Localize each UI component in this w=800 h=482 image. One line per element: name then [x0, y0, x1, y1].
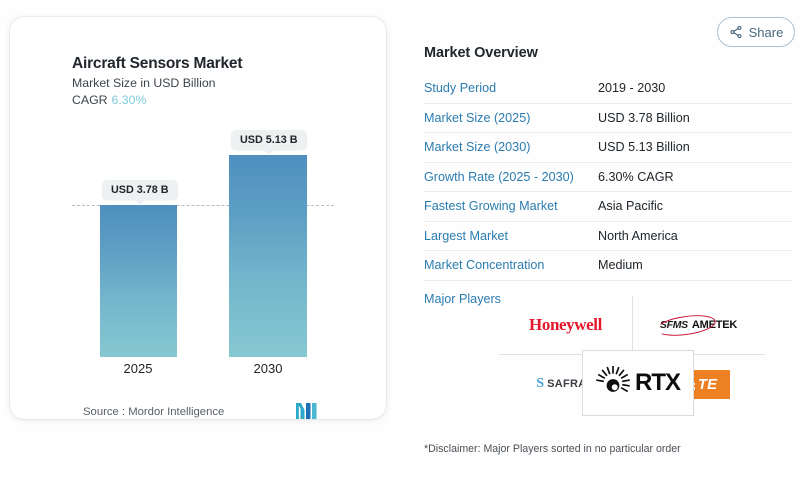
te-text: TE	[698, 377, 717, 392]
table-row: Study Period 2019 - 2030	[424, 74, 792, 104]
bar-2030[interactable]	[229, 155, 307, 357]
sfms-ametek-logo: SFMS AMETEK	[660, 319, 737, 331]
market-overview-title: Market Overview	[424, 45, 792, 61]
bar-chart-plot: USD 3.78 B USD 5.13 B 2025 2030	[10, 17, 386, 419]
row-label: Market Size (2025)	[424, 111, 598, 125]
logo-cell-rtx: RTX	[582, 350, 694, 416]
bar-value-label-2030: USD 5.13 B	[231, 130, 307, 150]
share-button[interactable]: Share	[717, 17, 795, 47]
row-value: 6.30% CAGR	[598, 170, 674, 184]
table-row: Market Size (2025) USD 3.78 Billion	[424, 104, 792, 134]
table-row: Largest Market North America	[424, 222, 792, 252]
rtx-text: RTX	[635, 369, 680, 397]
table-row: Fastest Growing Market Asia Pacific	[424, 192, 792, 222]
x-axis-label-2025: 2025	[93, 361, 183, 376]
row-value: USD 3.78 Billion	[598, 111, 690, 125]
row-value: Medium	[598, 258, 643, 272]
row-label: Market Concentration	[424, 258, 598, 272]
safran-mark-icon: S	[536, 376, 544, 392]
x-axis-label-2030: 2030	[223, 361, 313, 376]
bar-value-label-2025: USD 3.78 B	[102, 180, 178, 200]
row-label: Growth Rate (2025 - 2030)	[424, 170, 598, 184]
share-icon	[729, 25, 743, 39]
row-label: Fastest Growing Market	[424, 199, 598, 213]
mordor-intelligence-logo	[296, 403, 318, 419]
sfms-swoosh-icon	[655, 312, 717, 339]
row-value: USD 5.13 Billion	[598, 140, 690, 154]
market-overview-panel: Market Overview Study Period 2019 - 2030…	[424, 45, 792, 306]
row-value: 2019 - 2030	[598, 81, 665, 95]
market-snapshot-page: Aircraft Sensors Market Market Size in U…	[0, 0, 800, 482]
logo-cell-honeywell: Honeywell	[499, 296, 632, 354]
table-row: Growth Rate (2025 - 2030) 6.30% CAGR	[424, 163, 792, 193]
table-row: Market Size (2030) USD 5.13 Billion	[424, 133, 792, 163]
row-value: North America	[598, 229, 678, 243]
row-label: Study Period	[424, 81, 598, 95]
row-label: Market Size (2030)	[424, 140, 598, 154]
honeywell-logo: Honeywell	[529, 315, 602, 335]
chart-card: Aircraft Sensors Market Market Size in U…	[10, 17, 386, 419]
disclaimer-text: *Disclaimer: Major Players sorted in no …	[424, 443, 681, 455]
source-text: Source : Mordor Intelligence	[83, 406, 224, 418]
table-row: Market Concentration Medium	[424, 251, 792, 281]
share-label: Share	[749, 25, 784, 40]
row-value: Asia Pacific	[598, 199, 663, 213]
rtx-sunburst-icon	[596, 366, 630, 400]
row-label: Largest Market	[424, 229, 598, 243]
bar-2025[interactable]	[100, 205, 177, 357]
logo-cell-sfms-ametek: SFMS AMETEK	[632, 296, 765, 354]
